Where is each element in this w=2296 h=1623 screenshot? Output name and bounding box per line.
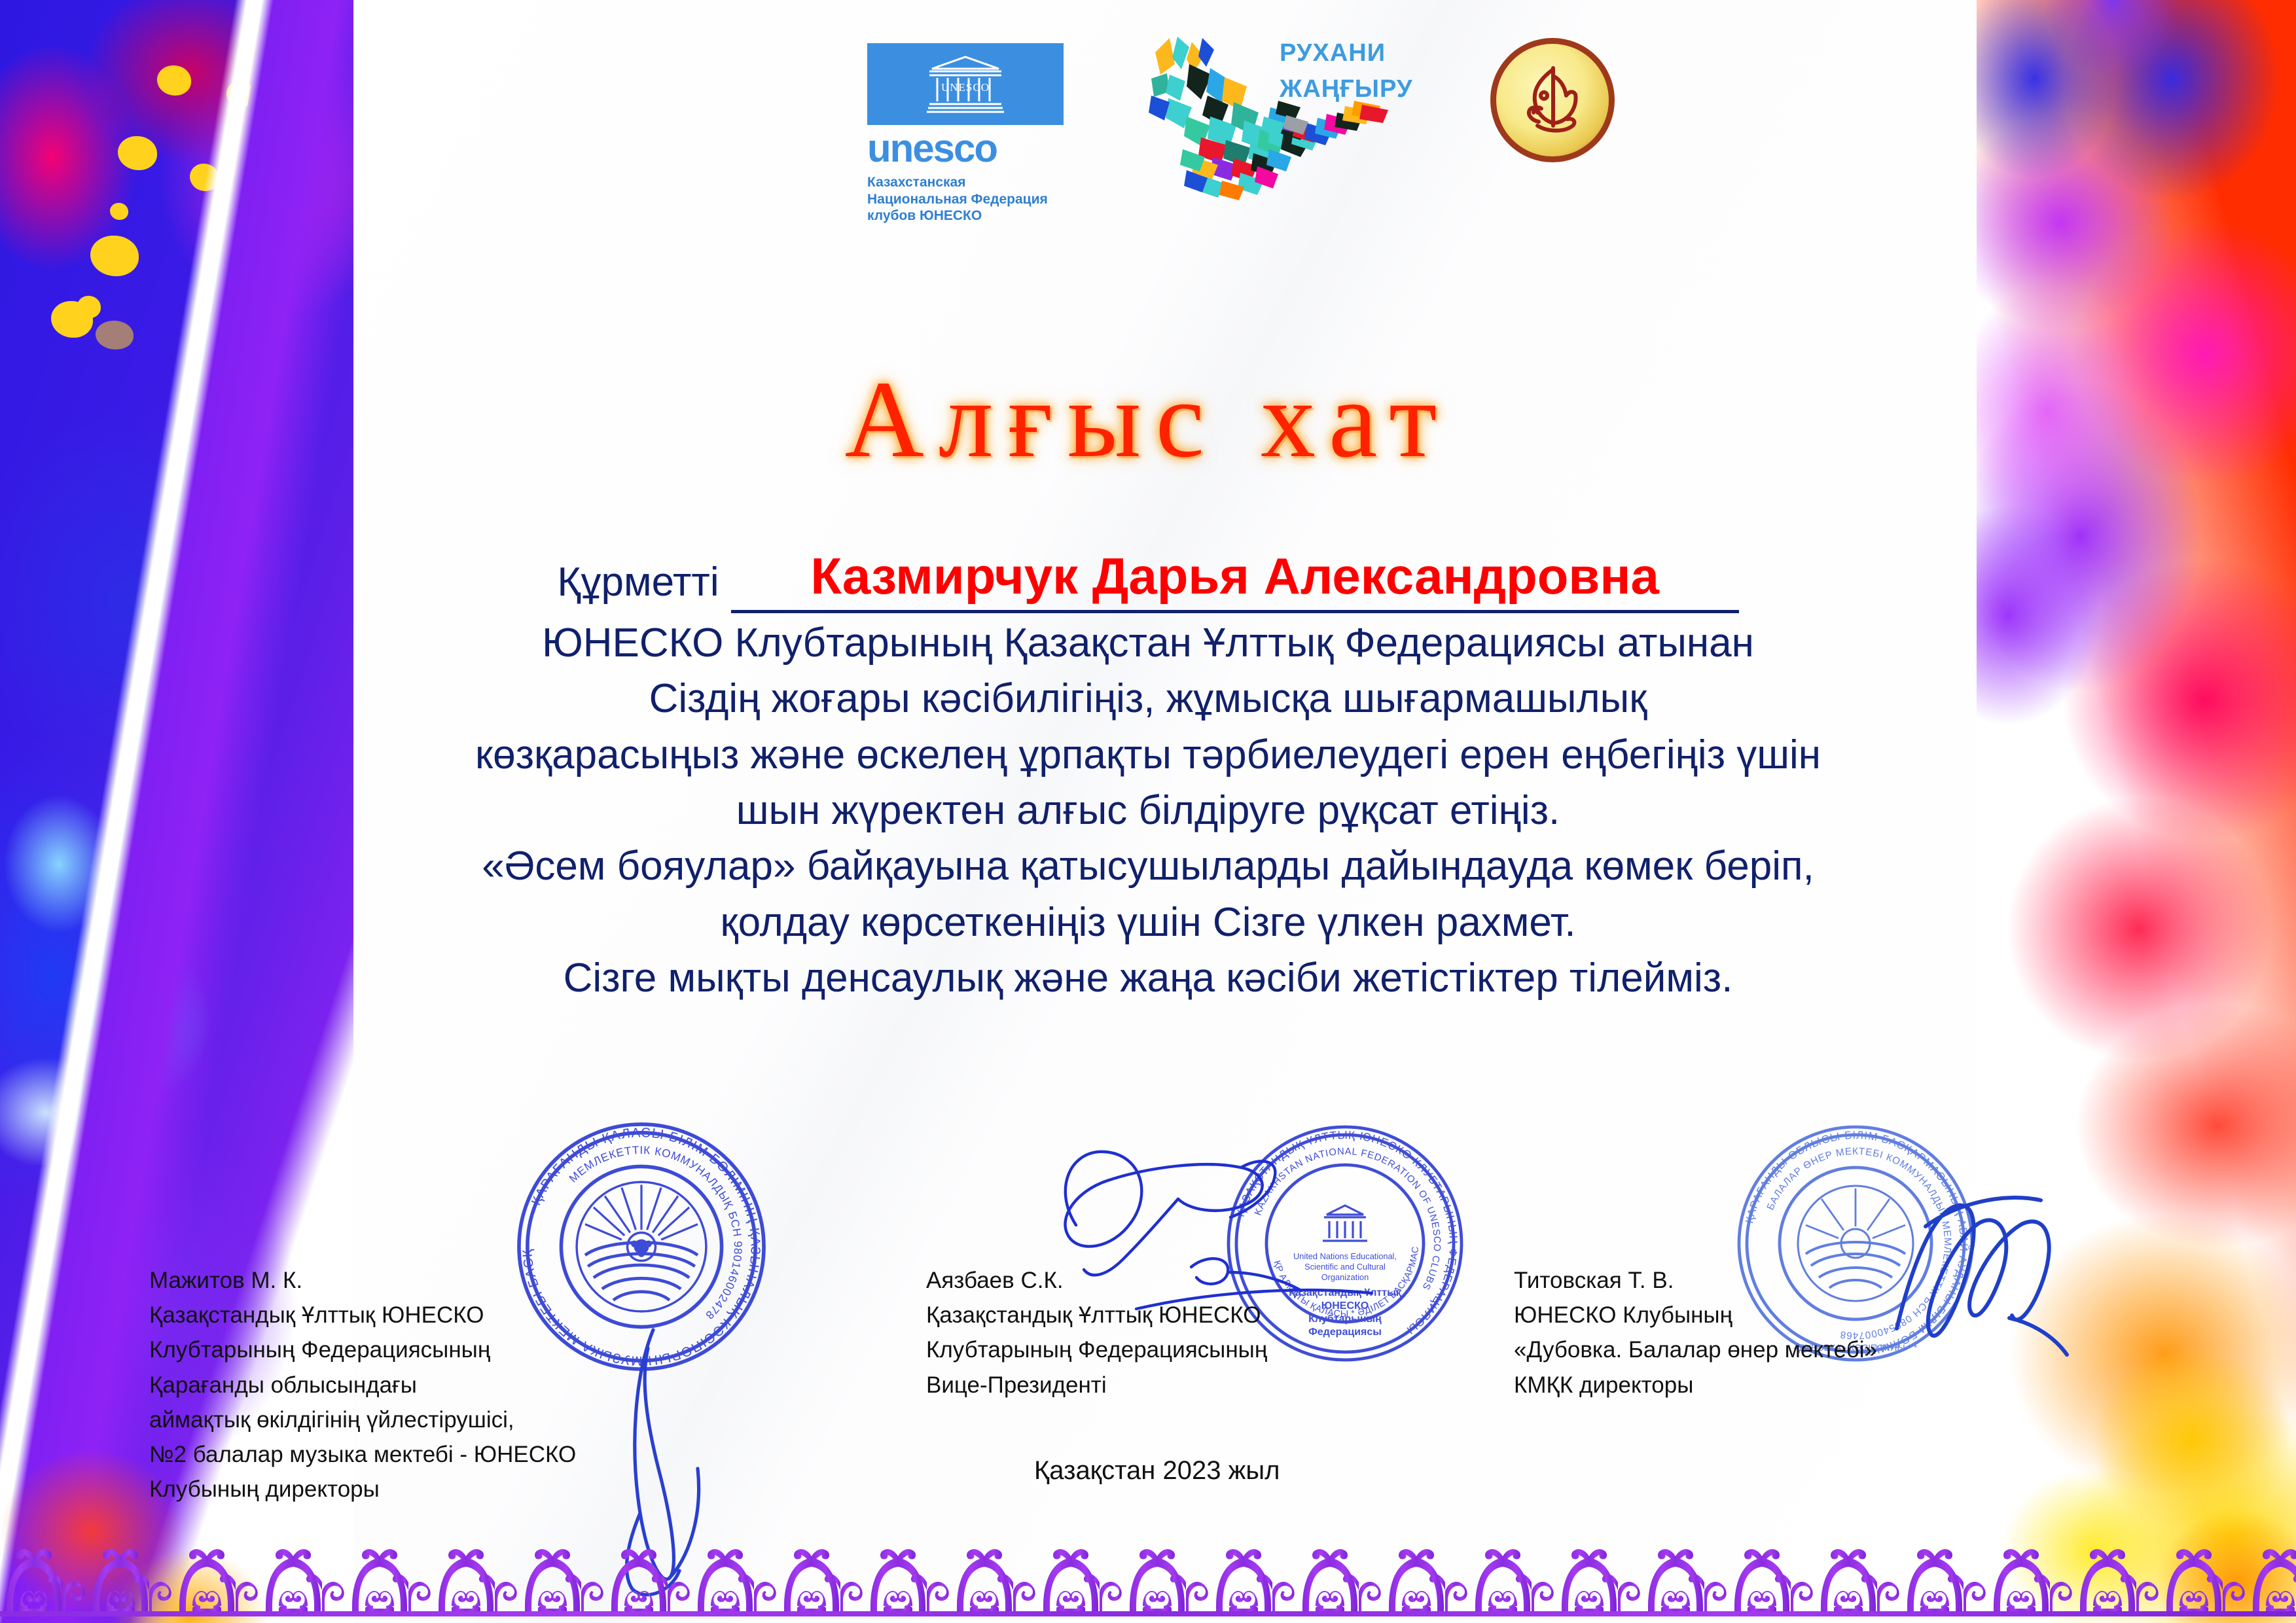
signatory-title-2-1: «Дубовка. Балалар өнер мектебі» <box>1514 1332 1877 1367</box>
ruhani-line-2: ЖАҢҒЫРУ <box>1280 71 1412 107</box>
signatory-name-1: Аязбаев С.К. <box>926 1263 1267 1298</box>
body-line-2: Сіздің жоғары кәсібилігіңіз, жұмысқа шығ… <box>0 673 2296 724</box>
ruhani-line-1: РУХАНИ <box>1280 35 1412 71</box>
body-line-4: шын жүректен алғыс білдіруге рұқсат етің… <box>0 785 2296 836</box>
signature-block-titovskaya: Титовская Т. В. ЮНЕСКО Клубының «Дубовка… <box>1514 1263 1877 1402</box>
unesco-logo: UNESCO unesco Казахстанская Национальная… <box>867 43 1070 224</box>
body-line-5: «Әсем бояулар» байқауына қатысушыларды д… <box>0 840 2296 892</box>
signatory-title-0-3: аймақтық өкілдігінің үйлестірушісі, <box>149 1402 576 1437</box>
certificate-page: UNESCO unesco Казахстанская Национальная… <box>0 0 2296 1623</box>
body-line-6: қолдау көрсеткеніңіз үшін Сізге үлкен ра… <box>0 897 2296 948</box>
signature-block-mazhitov: Мажитов М. К. Қазақстандық Ұлттық ЮНЕСКО… <box>149 1263 576 1507</box>
header-logos: UNESCO unesco Казахстанская Национальная… <box>821 12 1685 274</box>
unesco-subtitle-line-3: клубов ЮНЕСКО <box>867 207 1070 224</box>
body-line-3: көзқарасыңыз және өскелең ұрпақты тәрбие… <box>0 729 2296 781</box>
recipient-name-field[interactable]: Казмирчук Дарья Александровна <box>731 546 1739 613</box>
unesco-subtitle: Казахстанская Национальная Федерация клу… <box>867 174 1070 224</box>
signatory-name-2: Титовская Т. В. <box>1514 1263 1877 1298</box>
signature-block-ayazbaev: Аязбаев С.К. Қазақстандық Ұлттық ЮНЕСКО … <box>926 1263 1267 1402</box>
signatory-title-1-2: Вице-Президенті <box>926 1368 1267 1402</box>
recipient-name: Казмирчук Дарья Александровна <box>810 547 1659 605</box>
body-line-7: Сізге мықты денсаулық және жаңа кәсіби ж… <box>0 952 2296 1004</box>
signatory-title-0-4: №2 балалар музыка мектебі - ЮНЕСКО <box>149 1437 576 1472</box>
unesco-wordmark: unesco <box>867 129 1070 168</box>
paint-dots-yellow <box>39 39 321 406</box>
unesco-subtitle-line-1: Казахстанская <box>867 174 1070 191</box>
certificate-body: Құрметті Казмирчук Дарья Александровна Ю… <box>0 546 2296 1005</box>
signatory-title-1-1: Клубтарының Федерациясының <box>926 1332 1267 1367</box>
salutation-row: Құрметті Казмирчук Дарья Александровна <box>0 546 2296 613</box>
ruhani-zhangyru-text: РУХАНИ ЖАҢҒЫРУ <box>1280 35 1412 107</box>
signatory-title-0-5: Клубының директоры <box>149 1472 576 1507</box>
ruhani-zhangyru-logo: РУХАНИ ЖАҢҒЫРУ <box>1129 18 1469 215</box>
gold-emblem-icon <box>1490 38 1615 162</box>
signatory-title-0-2: Қарағанды облысындағы <box>149 1368 576 1402</box>
signatory-title-0-0: Қазақстандық Ұлттық ЮНЕСКО <box>149 1298 576 1332</box>
greeting-label: Құрметті <box>557 559 719 613</box>
signature-ink-titovskaya <box>1878 1171 2094 1391</box>
signatory-title-1-0: Қазақстандық Ұлттық ЮНЕСКО <box>926 1298 1267 1332</box>
svg-text:UNESCO: UNESCO <box>941 81 990 94</box>
unesco-temple-icon: UNESCO <box>867 43 1064 125</box>
signatory-title-2-0: ЮНЕСКО Клубының <box>1514 1298 1877 1332</box>
unesco-subtitle-line-2: Национальная Федерация <box>867 191 1070 208</box>
signatory-name-0: Мажитов М. К. <box>149 1263 576 1298</box>
signatory-title-0-1: Клубтарының Федерациясының <box>149 1332 576 1367</box>
certificate-title: Алғыс хат <box>0 357 2296 483</box>
kazakh-ornament-border <box>0 1543 2296 1616</box>
signatory-title-2-2: КМҚК директоры <box>1514 1368 1877 1402</box>
body-line-1: ЮНЕСКО Клубтарының Қазақстан Ұлттық Феде… <box>0 617 2296 669</box>
place-and-year: Қазақстан 2023 жыл <box>1034 1456 1280 1486</box>
